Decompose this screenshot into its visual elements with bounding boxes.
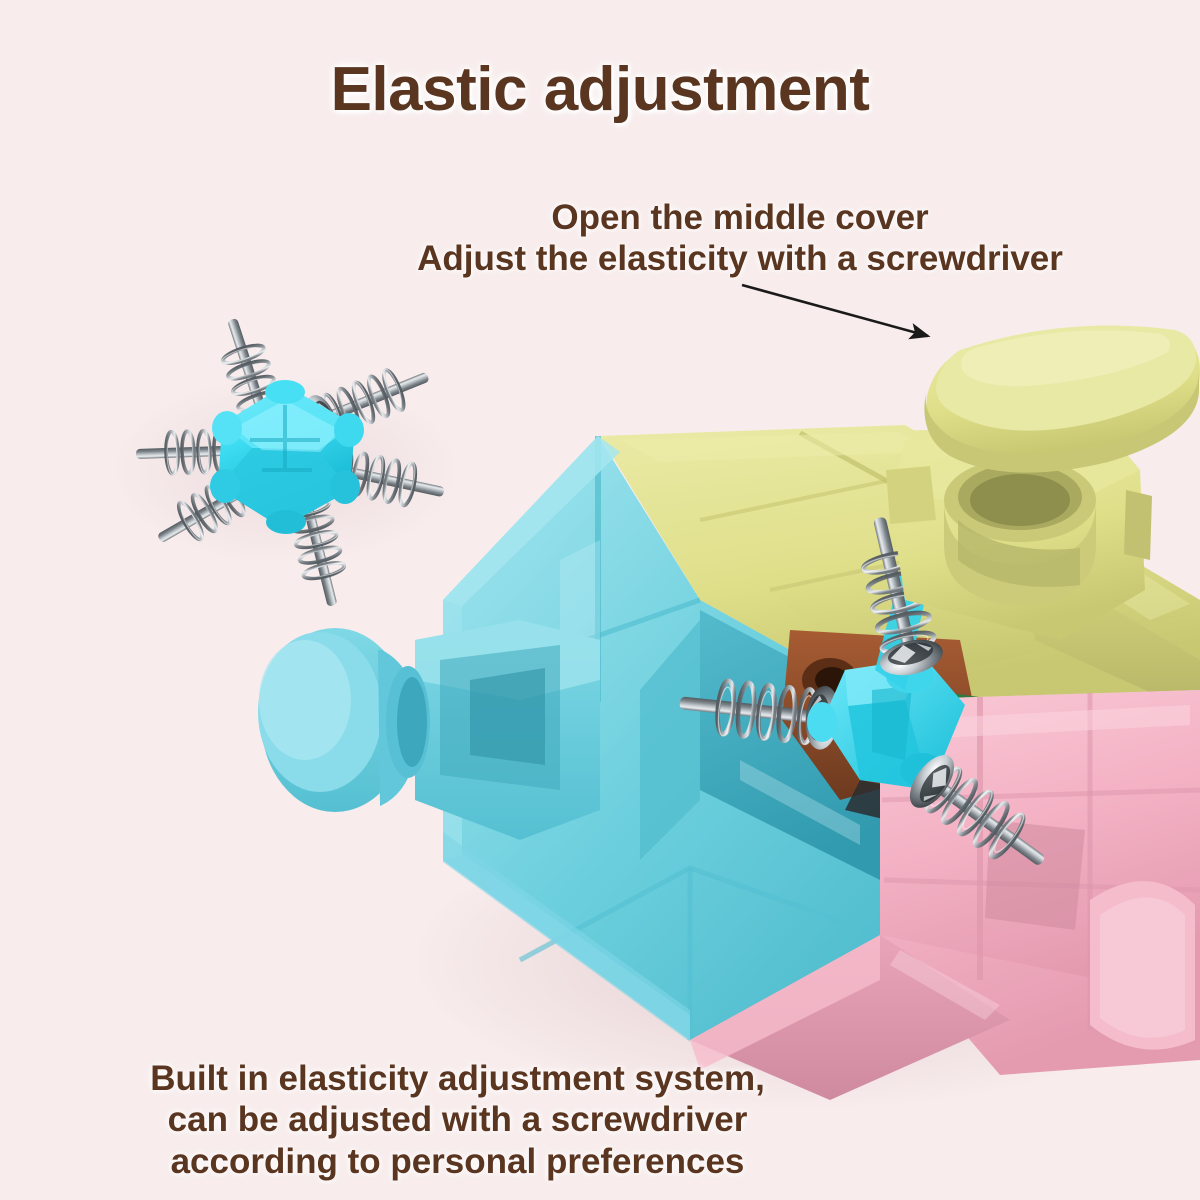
- pointer-arrow: [742, 285, 928, 336]
- blue-center-cap-detached: [258, 628, 430, 812]
- product-infographic: Elastic adjustment Open the middle cover…: [0, 0, 1200, 1200]
- footer-line-1: Built in elasticity adjustment system,: [0, 1058, 915, 1099]
- footer-line-3: according to personal preferences: [0, 1141, 915, 1182]
- page-title: Elastic adjustment: [0, 54, 1200, 125]
- product-illustration: [0, 0, 1200, 1200]
- yellow-center-cap-detached: [924, 326, 1200, 473]
- blue-centre-housing: [415, 620, 600, 840]
- footer-line-2: can be adjusted with a screwdriver: [0, 1099, 915, 1140]
- footer-text: Built in elasticity adjustment system, c…: [0, 1058, 915, 1182]
- core-spider-exploded: [110, 312, 460, 612]
